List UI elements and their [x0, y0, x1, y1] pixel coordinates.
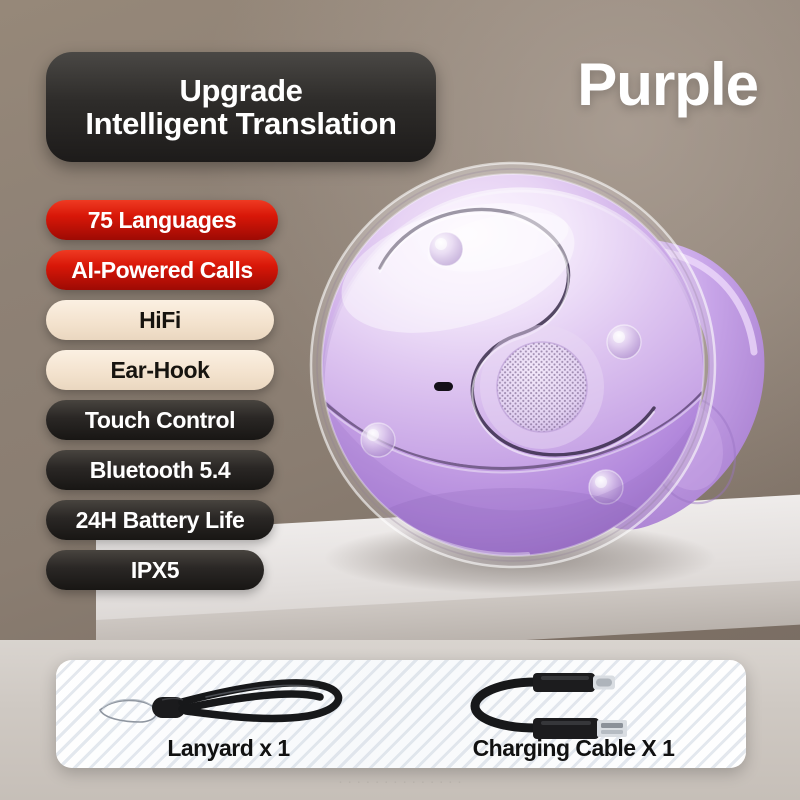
lanyard-icon	[56, 664, 401, 744]
headline-line-2: Intelligent Translation	[85, 107, 396, 140]
feature-pill-list: 75 LanguagesAI-Powered CallsHiFiEar-Hook…	[46, 200, 278, 600]
feature-pill: HiFi	[46, 300, 274, 340]
product-marketing-canvas: · · · · · · · · · · · · · ·	[0, 0, 800, 800]
feature-pill: Ear-Hook	[46, 350, 274, 390]
watermark-text: · · · · · · · · · · · · · ·	[0, 770, 800, 792]
feature-pill: Touch Control	[46, 400, 274, 440]
colorway-title: Purple	[577, 50, 758, 119]
headline-badge: Upgrade Intelligent Translation	[46, 52, 436, 162]
feature-pill: 24H Battery Life	[46, 500, 274, 540]
lanyard-label: Lanyard x 1	[56, 735, 401, 762]
charging-cable-icon	[401, 664, 746, 744]
svg-text:· · · · · · · · · · · · · ·: · · · · · · · · · · · · · ·	[338, 773, 462, 790]
feature-pill: Bluetooth 5.4	[46, 450, 274, 490]
product-image	[288, 150, 800, 620]
accessory-charging-cable: Charging Cable X 1	[401, 660, 746, 768]
led-indicator-slot	[434, 382, 453, 391]
feature-pill: 75 Languages	[46, 200, 278, 240]
headline-line-1: Upgrade	[180, 74, 303, 107]
accessories-panel: Lanyard x 1 Charging Cable X 1	[56, 660, 746, 768]
feature-pill: AI-Powered Calls	[46, 250, 278, 290]
feature-pill: IPX5	[46, 550, 264, 590]
charging-cable-label: Charging Cable X 1	[401, 735, 746, 762]
accessory-lanyard: Lanyard x 1	[56, 660, 401, 768]
